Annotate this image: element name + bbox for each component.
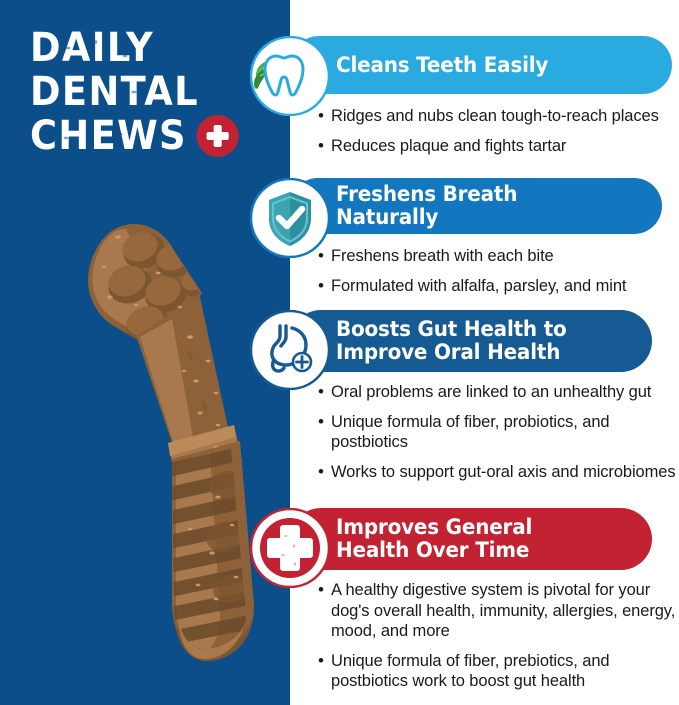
benefit-title-general-health: Improves General Health Over Time <box>336 516 532 562</box>
tooth-mint-icon <box>250 36 330 116</box>
stomach-plus-icon <box>250 310 330 390</box>
benefit-bullets-gut-health: • Oral problems are linked to an unhealt… <box>318 382 679 491</box>
bullet-text: Unique formula of fiber, prebiotics, and… <box>331 651 679 692</box>
benefit-banner-gut-health: Boosts Gut Health to Improve Oral Health <box>290 310 652 372</box>
list-item: • Oral problems are linked to an unhealt… <box>318 382 679 403</box>
list-item: • A healthy digestive system is pivotal … <box>318 580 679 642</box>
benefit-title-freshens-breath: Freshens Breath Naturally <box>336 183 621 229</box>
benefit-bullets-freshens-breath: • Freshens breath with each bite • Formu… <box>318 246 679 305</box>
benefit-title-gut-health: Boosts Gut Health to Improve Oral Health <box>336 318 567 364</box>
list-item: • Freshens breath with each bite <box>318 246 679 267</box>
benefit-title-cleans-teeth: Cleans Teeth Easily <box>336 54 548 77</box>
list-item: • Formulated with alfalfa, parsley, and … <box>318 276 679 297</box>
bullet-text: Reduces plaque and fights tartar <box>331 136 679 157</box>
shield-check-icon <box>250 178 330 258</box>
list-item: • Reduces plaque and fights tartar <box>318 136 679 157</box>
list-item: • Unique formula of fiber, probiotics, a… <box>318 412 679 453</box>
bullet-glyph: • <box>318 651 331 692</box>
infographic-poster: DAILY DENTAL CHEWS <box>0 0 679 705</box>
bullet-glyph: • <box>318 462 331 483</box>
bullet-glyph: • <box>318 136 331 157</box>
bullet-glyph: • <box>318 580 331 642</box>
benefit-bullets-general-health: • A healthy digestive system is pivotal … <box>318 580 679 701</box>
benefit-banner-cleans-teeth: Cleans Teeth Easily <box>290 36 672 94</box>
bullet-glyph: • <box>318 412 331 453</box>
benefits-list: Cleans Teeth Easily • Ridges <box>0 0 679 705</box>
benefit-banner-freshens-breath: Freshens Breath Naturally <box>290 178 662 234</box>
bullet-text: Unique formula of fiber, probiotics, and… <box>331 412 679 453</box>
bullet-text: A healthy digestive system is pivotal fo… <box>331 580 679 642</box>
benefit-bullets-cleans-teeth: • Ridges and nubs clean tough-to-reach p… <box>318 106 679 165</box>
list-item: • Works to support gut-oral axis and mic… <box>318 462 679 483</box>
list-item: • Ridges and nubs clean tough-to-reach p… <box>318 106 679 127</box>
benefit-banner-general-health: Improves General Health Over Time <box>290 508 652 570</box>
bullet-text: Works to support gut-oral axis and micro… <box>331 462 679 483</box>
bullet-text: Oral problems are linked to an unhealthy… <box>331 382 679 403</box>
bullet-glyph: • <box>318 276 331 297</box>
list-item: • Unique formula of fiber, prebiotics, a… <box>318 651 679 692</box>
bullet-text: Ridges and nubs clean tough-to-reach pla… <box>331 106 679 127</box>
bullet-text: Freshens breath with each bite <box>331 246 679 267</box>
medical-cross-icon <box>250 508 330 588</box>
bullet-text: Formulated with alfalfa, parsley, and mi… <box>331 276 679 297</box>
